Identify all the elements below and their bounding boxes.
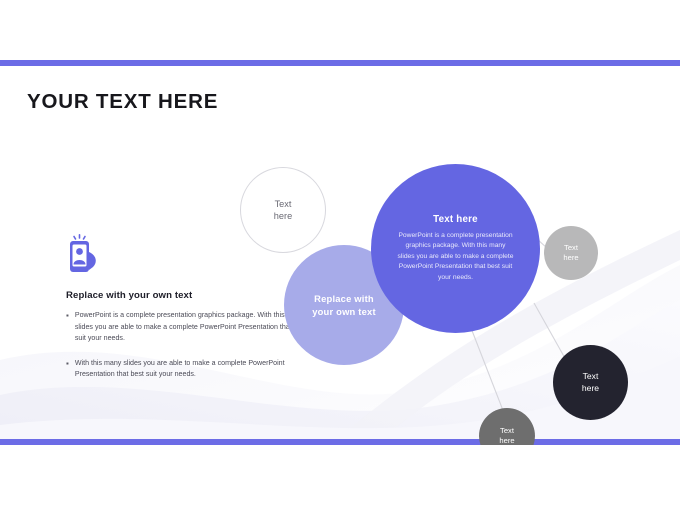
- circle-label-line2: here: [582, 383, 599, 395]
- circle-label-line2: here: [274, 210, 292, 222]
- circle-label-line1: Text: [583, 371, 599, 383]
- diagram-circle-grey-top[interactable]: Text here: [544, 226, 598, 280]
- circle-label-line2: here: [563, 253, 578, 263]
- diagram-circle-main[interactable]: Text here PowerPoint is a complete prese…: [371, 164, 540, 333]
- circle-label-line1: Replace with: [314, 292, 374, 305]
- diagram-circle-grey-bottom[interactable]: Text here: [479, 408, 535, 445]
- circle-label-line1: Text: [275, 198, 292, 210]
- circle-label-line2: your own text: [312, 305, 376, 318]
- diagram-circle-dark[interactable]: Text here: [553, 345, 628, 420]
- circle-title: Text here: [433, 214, 478, 225]
- diagram-circle-outline[interactable]: Text here: [240, 167, 326, 253]
- circle-label-line2: here: [499, 436, 514, 445]
- slide-canvas: YOUR TEXT HERE Replace with your own tex…: [0, 60, 680, 445]
- circle-label-line1: Text: [500, 426, 514, 436]
- circle-diagram: Text here Replace with your own text Tex…: [0, 60, 680, 445]
- circle-label-line1: Text: [564, 243, 578, 253]
- circle-body-text: PowerPoint is a complete presentation gr…: [398, 231, 514, 284]
